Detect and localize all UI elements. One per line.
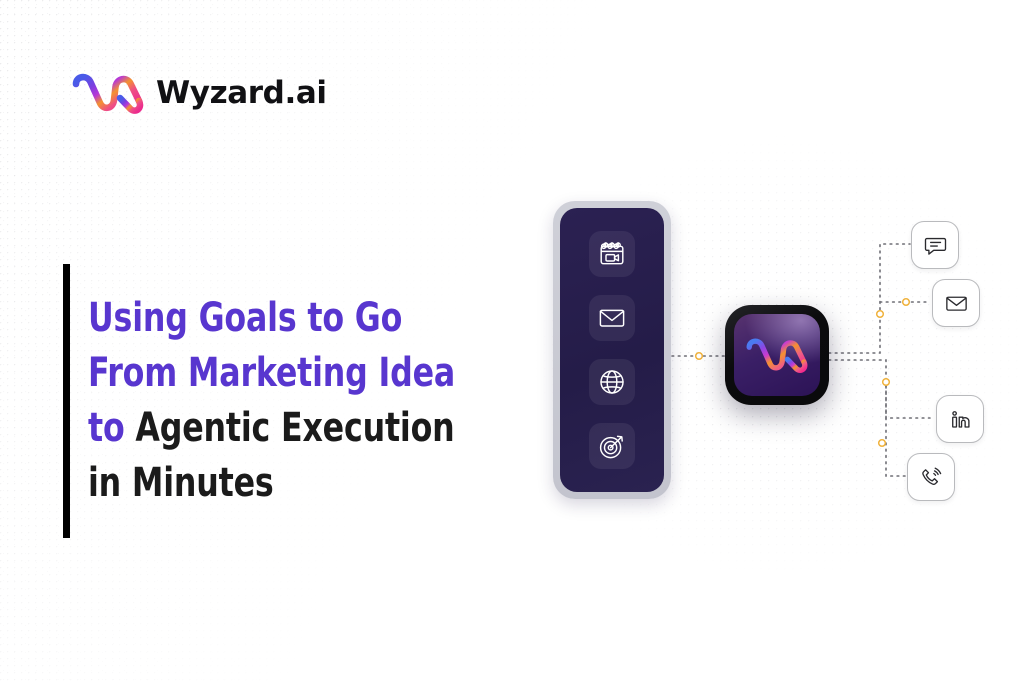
linkedin-icon (948, 407, 973, 432)
channel-input-panel (553, 201, 671, 499)
wyzard-w-logo-icon (70, 70, 146, 116)
output-item-call[interactable] (907, 453, 955, 501)
output-item-chat[interactable] (911, 221, 959, 269)
headline-dark-text: Agentic Execution in Minutes (88, 405, 465, 506)
channel-item-goals[interactable] (589, 423, 635, 469)
headline-accent-bar (63, 264, 70, 538)
channel-item-email[interactable] (589, 295, 635, 341)
envelope-icon (944, 291, 969, 316)
calendar-video-icon (598, 240, 626, 268)
chat-bubble-icon (923, 233, 948, 258)
channel-item-webinar[interactable] (589, 231, 635, 277)
globe-icon (598, 368, 626, 396)
connector-node (883, 379, 890, 386)
connector-node (879, 440, 886, 447)
connector-node (696, 353, 703, 360)
output-item-email[interactable] (932, 279, 980, 327)
connector-node (903, 299, 910, 306)
phone-call-icon (919, 465, 944, 490)
brand-name: Wyzard.ai (156, 75, 327, 111)
headline-block: Using Goals to Go From Marketing Idea to… (63, 264, 518, 538)
page-title: Using Goals to Go From Marketing Idea to… (88, 291, 466, 511)
target-dart-icon (598, 432, 626, 460)
channel-item-web[interactable] (589, 359, 635, 405)
connector-node (877, 311, 884, 318)
wyzard-agent-hub-inner (734, 314, 820, 396)
wyzard-agent-hub[interactable] (725, 305, 829, 405)
channel-input-panel-inner (560, 208, 664, 492)
wyzard-w-logo-icon (744, 335, 810, 375)
output-item-linkedin[interactable] (936, 395, 984, 443)
brand-logo: Wyzard.ai (70, 70, 327, 116)
envelope-icon (598, 304, 626, 332)
